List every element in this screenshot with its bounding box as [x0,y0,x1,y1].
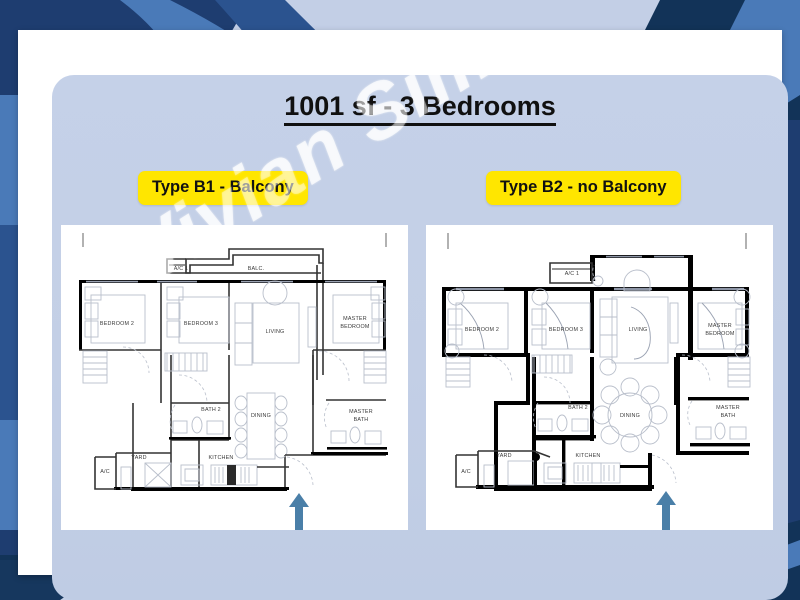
floorplan-panel-type-b1[interactable]: BEDROOM 2 BEDROOM 3 [61,225,408,530]
plan-b1-label-yard: YARD [131,455,146,461]
plan-b2-label-bedroom3: BEDROOM 3 [549,327,583,333]
badge-type-b1[interactable]: Type B1 - Balcony [138,171,308,205]
page-title: 1001 sf - 3 Bedrooms [52,91,788,122]
plan-b1-label-ac: A/C [100,469,110,475]
plan-b1-label-master-bedroom-2: BEDROOM [340,324,370,330]
plan-b2-label-ac1: A/C 1 [565,271,579,277]
plan-b1-label-bath2: BATH 2 [201,407,221,413]
badge-type-b2[interactable]: Type B2 - no Balcony [486,171,681,205]
plan-b2-label-master-bedroom-2: BEDROOM [705,331,735,337]
floorplan-panel-type-b2[interactable]: A/C 1 [426,225,773,530]
slide-frame: Vivian Sim 1001 sf - 3 Bedrooms Type B1 … [18,30,782,575]
plan-b2-label-ac: A/C [461,469,471,475]
slide-card: Vivian Sim 1001 sf - 3 Bedrooms Type B1 … [52,75,788,600]
plan-b2-label-master-bath-1: MASTER [716,405,740,411]
plan-b1-top-wall [79,280,386,283]
page-title-text: 1001 sf - 3 Bedrooms [284,91,556,126]
plan-b2-label-yard: YARD [496,453,511,459]
plan-b1-label-ac1: A/C 1 [174,266,188,272]
plan-b2-label-bath2: BATH 2 [568,405,588,411]
plan-b1-label-living: LIVING [266,329,285,335]
plan-b1-label-master-bath-1: MASTER [349,409,373,415]
plan-b1-label-balcony: BALC. [248,266,265,272]
plan-b1-label-bedroom2: BEDROOM 2 [100,321,134,327]
plan-b2-label-bedroom2: BEDROOM 2 [465,327,499,333]
plan-b1-label-master-bedroom-1: MASTER [343,316,367,322]
plan-b2-label-master-bedroom-1: MASTER [708,323,732,329]
plan-b1-label-bedroom3: BEDROOM 3 [184,321,218,327]
plan-b1-label-dining: DINING [251,413,271,419]
plan-b2-label-kitchen: KITCHEN [575,453,600,459]
plan-b2-label-master-bath-2: BATH [721,413,736,419]
plan-b2-label-dining: DINING [620,413,640,419]
plan-b2-label-living: LIVING [629,327,648,333]
plan-b1-label-master-bath-2: BATH [354,417,369,423]
plan-b1-label-kitchen: KITCHEN [208,455,233,461]
